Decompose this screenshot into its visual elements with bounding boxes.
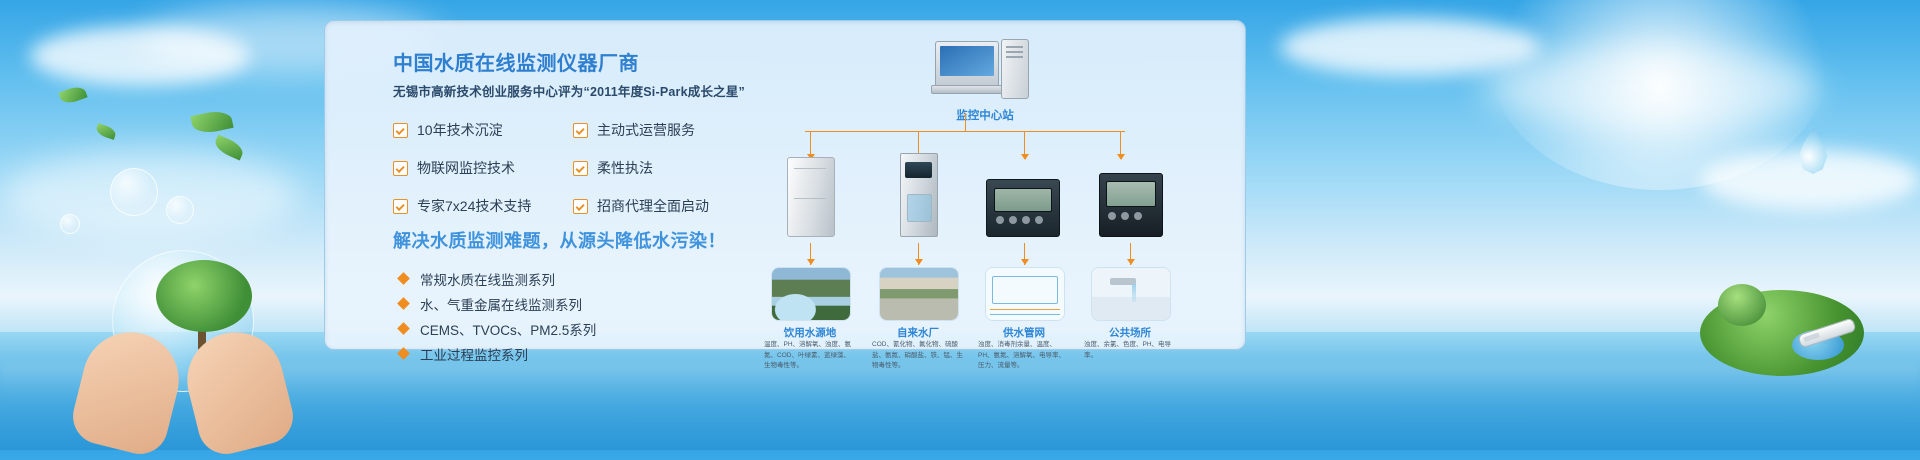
connector-drop [1120,131,1121,155]
controller-icon [983,153,1063,237]
flow-arrow-icon [810,243,811,265]
flow-arrow-icon [1024,243,1025,265]
cloud-4 [1480,48,1820,128]
node-description: 温度、PH、溶解氧、浊度、氨氮、COD、叶绿素、蓝绿藻、生物毒性等。 [764,340,856,372]
checkbox-icon [573,123,588,138]
device-column [879,153,959,237]
node-description: 浊度、余氯、色度、PH、电导率。 [1084,340,1176,361]
device-column [1091,153,1171,237]
analyzer-cabinet-icon [771,153,851,237]
list-item[interactable]: CEMS、TVOCs、PM2.5系列 [399,316,596,341]
list-item[interactable]: 常规水质在线监测系列 [399,266,596,291]
diamond-bullet-icon [397,322,410,335]
bubble [110,168,158,216]
scene-thumbnail[interactable] [879,267,959,321]
node-caption: 公共场所 [1080,325,1180,340]
leaf-icon [190,108,233,136]
node-description: COD、氰化物、氟化物、硫酸盐、氨氮、硝酸盐、铁、锰、生物毒性等。 [872,340,964,372]
device-column [771,153,851,237]
list-item-label: 常规水质在线监测系列 [420,269,555,289]
list-item[interactable]: 水、气重金属在线监测系列 [399,291,596,316]
scene-thumbnail[interactable] [771,267,851,321]
controller-icon [1091,153,1171,237]
device-column [983,153,1063,237]
product-list: 常规水质在线监测系列 水、气重金属在线监测系列 CEMS、TVOCs、PM2.5… [399,266,596,366]
diamond-bullet-icon [397,272,410,285]
feature-label: 主动式运营服务 [597,120,695,140]
checkbox-icon [393,123,408,138]
feature-label: 专家7x24技术支持 [417,196,531,216]
leaf-icon [95,123,117,140]
monitoring-center-computer-icon [935,41,1035,97]
scene-thumbnail[interactable] [1091,267,1171,321]
checkbox-icon [573,199,588,214]
system-diagram: 监控中心站 饮用水源地 温度、PH、溶解氧、浊度、氨氮、COD、叶绿素、蓝绿藻、… [755,35,1225,345]
flow-arrow-icon [1130,243,1131,265]
diamond-bullet-icon [397,347,410,360]
page-subtitle: 无锡市高新技术创业服务中心评为“2011年度Si-Park成长之星” [393,81,745,100]
keyboard-icon [931,85,1003,94]
analyzer-rack-icon [879,153,959,237]
pc-tower-icon [1001,39,1029,99]
bubble [60,214,80,234]
list-item-label: CEMS、TVOCs、PM2.5系列 [420,319,596,339]
bubble [166,196,194,224]
feature-label: 柔性执法 [597,158,653,178]
feature-label: 招商代理全面启动 [597,196,709,216]
diamond-bullet-icon [397,297,410,310]
flow-arrow-icon [918,243,919,265]
connector-drop [810,131,811,155]
green-earth [1700,266,1864,376]
node-caption: 饮用水源地 [760,325,860,340]
connector-drop [918,131,919,155]
list-item-label: 工业过程监控系列 [420,344,528,364]
feature-label: 10年技术沉淀 [417,120,503,140]
checkbox-icon [393,161,408,176]
checkbox-icon [573,161,588,176]
scene-thumbnail[interactable] [985,267,1065,321]
leaf-icon [58,84,87,106]
content-panel: 中国水质在线监测仪器厂商 无锡市高新技术创业服务中心评为“2011年度Si-Pa… [324,20,1246,350]
hands-holding-globe [78,305,288,450]
connector-bar [805,131,1125,132]
earth-tree [1718,284,1766,326]
center-node-label: 监控中心站 [895,107,1075,123]
cloud-3 [1280,18,1540,76]
tree-canopy [156,260,252,332]
node-caption: 自来水厂 [868,325,968,340]
monitor-icon [935,41,999,87]
section-title: 解决水质监测难题，从源头降低水污染！ [393,227,726,253]
feature-label: 物联网监控技术 [417,158,515,178]
checkbox-icon [393,199,408,214]
list-item-label: 水、气重金属在线监测系列 [420,294,582,314]
connector-stem [965,113,966,131]
node-description: 浊度、消毒剂余量、温度、PH、氨氮、溶解氧、电导率、压力、流量等。 [978,340,1070,372]
list-item[interactable]: 工业过程监控系列 [399,341,596,366]
connector-drop [1024,131,1025,155]
node-caption: 供水管网 [974,325,1074,340]
page-title: 中国水质在线监测仪器厂商 [393,47,639,76]
connector-brace [805,131,1125,159]
